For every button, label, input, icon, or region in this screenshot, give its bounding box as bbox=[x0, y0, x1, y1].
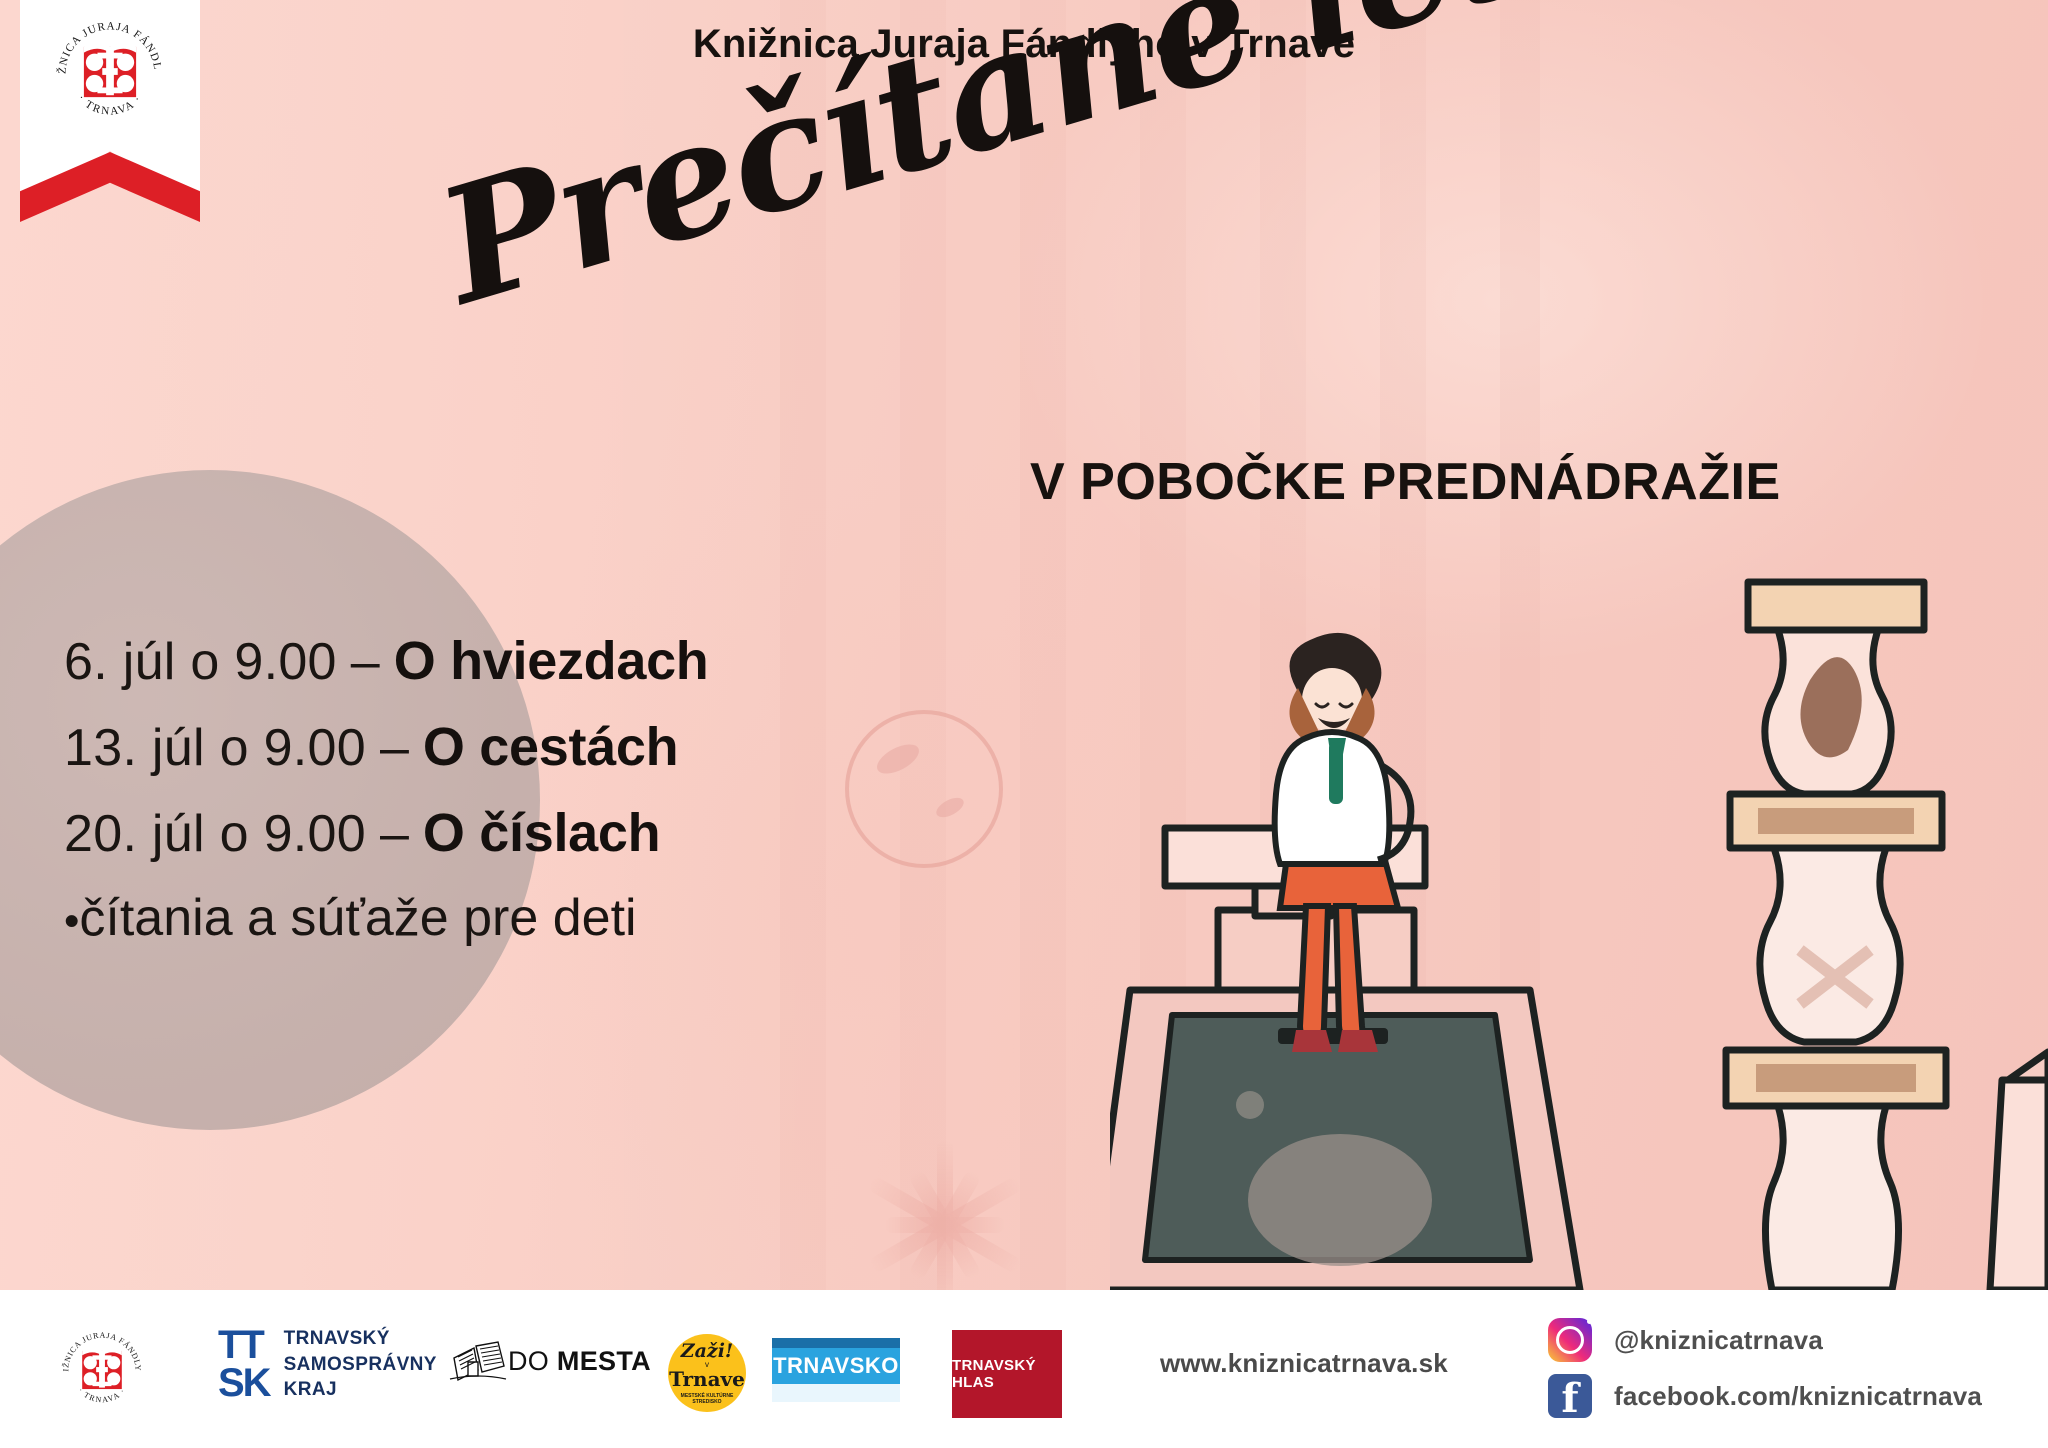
event-separator: – bbox=[351, 632, 380, 692]
partner-logo-trnavsko[interactable]: TRNAVSKO bbox=[772, 1338, 900, 1402]
footer-library-seal-icon: KNIŽNICA JURAJA FÁNDLYHO · TRNAVA · bbox=[58, 1326, 146, 1414]
event-datetime: 20. júl o 9.00 bbox=[64, 804, 366, 864]
event-datetime: 13. júl o 9.00 bbox=[64, 718, 366, 778]
partner-logo-trnavsky-hlas[interactable]: TRNAVSKÝ HLAS bbox=[952, 1330, 1062, 1418]
event-row: 6. júl o 9.00 – O hviezdach bbox=[64, 630, 708, 692]
trnavsko-header-bar bbox=[772, 1338, 900, 1348]
event-note: •čítania a súťaže pre deti bbox=[64, 888, 708, 948]
social-links: @kniznicatrnava f facebook.com/kniznicat… bbox=[1548, 1318, 1982, 1430]
newspaper-icon bbox=[448, 1338, 508, 1384]
partner-logo-ttsk[interactable]: TT SK TRNAVSKÝ SAMOSPRÁVNY KRAJ bbox=[218, 1326, 437, 1403]
zazi-line1: Zaži! bbox=[681, 1342, 734, 1361]
ttsk-word2: SAMOSPRÁVNY bbox=[284, 1352, 437, 1378]
trnavsky-hlas-wordmark: TRNAVSKÝ HLAS bbox=[952, 1357, 1062, 1391]
social-link-instagram[interactable]: @kniznicatrnava bbox=[1548, 1318, 1982, 1362]
event-title: O cestách bbox=[423, 716, 678, 778]
bullet-icon: • bbox=[64, 896, 79, 945]
ttsk-monogram: TT SK bbox=[218, 1326, 270, 1402]
event-separator: – bbox=[380, 718, 409, 778]
instagram-handle: @kniznicatrnava bbox=[1614, 1325, 1823, 1356]
museum-illustration bbox=[1110, 560, 2048, 1290]
domesta-bold: MESTA bbox=[557, 1346, 651, 1376]
zazi-line2: Trnave bbox=[669, 1369, 745, 1389]
trnavsko-footer-bar bbox=[772, 1384, 900, 1402]
partner-logo-zazi-v-trnave[interactable]: Zaži! v Trnave MESTSKÉ KULTÚRNE STREDISK… bbox=[668, 1334, 746, 1412]
domesta-wordmark: DO MESTA bbox=[508, 1346, 651, 1377]
instagram-icon bbox=[1548, 1318, 1592, 1362]
poster-root: KNIŽNICA JURAJA FÁNDLYHO · TRNAVA · Kniž… bbox=[0, 0, 2048, 1448]
event-datetime: 6. júl o 9.00 bbox=[64, 632, 337, 692]
event-separator: – bbox=[380, 804, 409, 864]
event-list: 6. júl o 9.00 – O hviezdach 13. júl o 9.… bbox=[64, 630, 708, 948]
ttsk-monogram-line1: TT bbox=[218, 1326, 270, 1364]
event-row: 20. júl o 9.00 – O číslach bbox=[64, 802, 708, 864]
facebook-icon: f bbox=[1548, 1374, 1592, 1418]
social-link-facebook[interactable]: f facebook.com/kniznicatrnava bbox=[1548, 1374, 1982, 1418]
ttsk-wordmark: TRNAVSKÝ SAMOSPRÁVNY KRAJ bbox=[284, 1326, 437, 1403]
event-title: O číslach bbox=[423, 802, 660, 864]
footer-bar: KNIŽNICA JURAJA FÁNDLYHO · TRNAVA · bbox=[0, 1290, 2048, 1448]
ttsk-word1: TRNAVSKÝ bbox=[284, 1326, 437, 1352]
decorative-sparkle-icon bbox=[860, 1140, 1030, 1310]
event-title: O hviezdach bbox=[394, 630, 709, 692]
decorative-bubble-icon bbox=[845, 710, 1003, 868]
event-note-text: čítania a súťaže pre deti bbox=[79, 889, 636, 947]
facebook-handle: facebook.com/kniznicatrnava bbox=[1614, 1381, 1982, 1412]
library-seal-icon: KNIŽNICA JURAJA FÁNDLYHO · TRNAVA · bbox=[52, 14, 168, 130]
partner-logo-domesta[interactable]: DO MESTA bbox=[448, 1338, 651, 1384]
trnavsko-wordmark: TRNAVSKO bbox=[772, 1348, 900, 1384]
ttsk-word3: KRAJ bbox=[284, 1377, 437, 1403]
zazi-tagline: MESTSKÉ KULTÚRNE STREDISKO bbox=[668, 1393, 746, 1405]
event-row: 13. júl o 9.00 – O cestách bbox=[64, 716, 708, 778]
page-subtitle: V POBOČKE PREDNÁDRAŽIE bbox=[1030, 452, 1781, 512]
ttsk-monogram-line2: SK bbox=[218, 1364, 270, 1402]
website-url[interactable]: www.kniznicatrnava.sk bbox=[1160, 1348, 1448, 1379]
domesta-prefix: DO bbox=[508, 1346, 557, 1376]
